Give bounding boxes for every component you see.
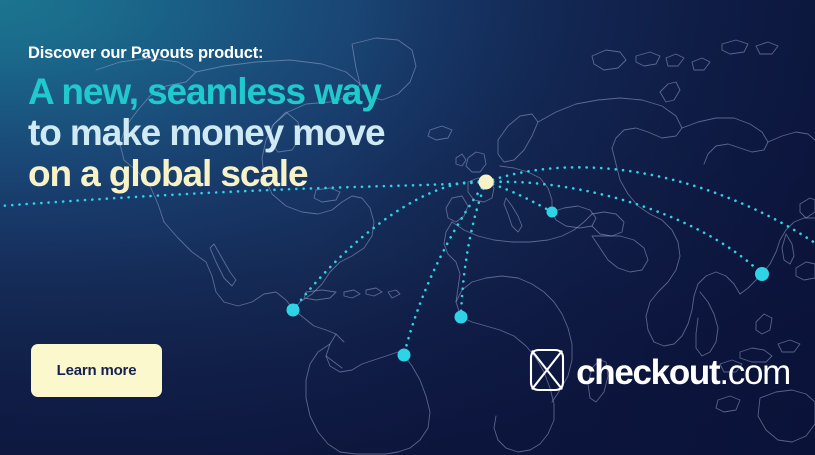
checkout-logo[interactable]: checkout.com xyxy=(529,348,790,397)
route-hub-to-central-america xyxy=(293,182,486,310)
checkout-hourglass-mark xyxy=(529,348,565,397)
payout-routes xyxy=(0,167,815,355)
headline-line-1: A new, seamless way xyxy=(28,71,498,112)
route-hub-to-west-africa xyxy=(461,182,486,317)
east-asia-node xyxy=(755,267,769,281)
learn-more-button[interactable]: Learn more xyxy=(31,344,162,397)
west-africa-node xyxy=(455,311,468,324)
page-title: A new, seamless way to make money move o… xyxy=(28,71,498,195)
headline-line-3: on a global scale xyxy=(28,153,498,194)
checkout-wordmark: checkout.com xyxy=(576,355,790,390)
eyebrow-text: Discover our Payouts product: xyxy=(28,44,498,64)
black-sea-node xyxy=(547,207,558,218)
copy-block: Discover our Payouts product: A new, sea… xyxy=(28,44,498,195)
payouts-promo-banner: Discover our Payouts product: A new, sea… xyxy=(0,0,815,455)
south-america-node xyxy=(398,349,411,362)
route-hub-to-south-america xyxy=(404,182,486,355)
brand-name-tld: .com xyxy=(719,353,790,392)
headline-line-2: to make money move xyxy=(28,112,498,153)
route-hub-to-far-east xyxy=(486,167,815,243)
central-america-node xyxy=(287,304,300,317)
brand-name-bold: checkout xyxy=(576,353,719,392)
payout-nodes xyxy=(287,175,770,362)
